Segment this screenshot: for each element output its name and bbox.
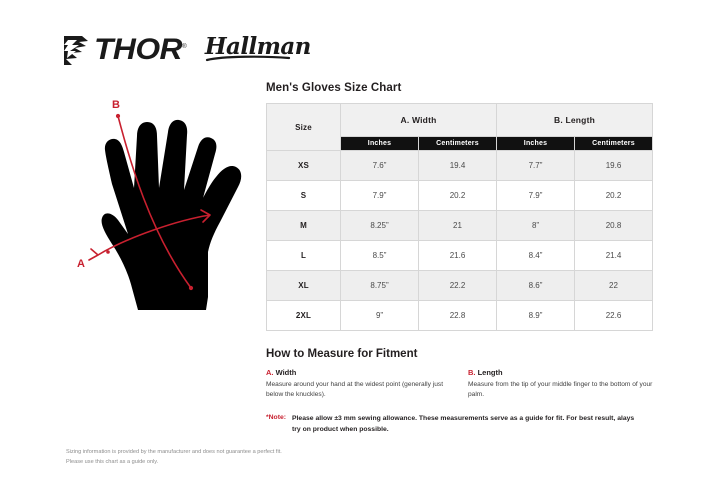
measure-width-block: A. Width Measure around your hand at the… xyxy=(266,368,452,400)
column-header-width-inches: Inches xyxy=(341,137,419,151)
cell-length-centimeters: 19.6 xyxy=(575,151,653,181)
measure-width-letter: A. xyxy=(266,368,274,377)
measure-width-body: Measure around your hand at the widest p… xyxy=(266,380,452,400)
column-header-size: Size xyxy=(267,104,341,151)
table-header: Size A. Width B. Length Inches Centimete… xyxy=(267,104,653,151)
hallman-logo: Hallman xyxy=(205,35,311,66)
cell-width-inches: 7.6” xyxy=(341,151,419,181)
table-row: M 8.25” 21 8” 20.8 xyxy=(267,211,653,241)
measure-length-heading: B. Length xyxy=(468,368,654,377)
table-row: L 8.5” 21.6 8.4” 21.4 xyxy=(267,241,653,271)
table-row: XS 7.6” 19.4 7.7” 19.6 xyxy=(267,151,653,181)
cell-length-inches: 8.9” xyxy=(497,301,575,331)
cell-width-centimeters: 21.6 xyxy=(419,241,497,271)
column-header-length-inches: Inches xyxy=(497,137,575,151)
cell-size: M xyxy=(267,211,341,241)
cell-width-inches: 8.75” xyxy=(341,271,419,301)
cell-size: L xyxy=(267,241,341,271)
page-title: Men's Gloves Size Chart xyxy=(266,82,654,94)
cell-length-inches: 7.7” xyxy=(497,151,575,181)
table-row: S 7.9” 20.2 7.9” 20.2 xyxy=(267,181,653,211)
footer-line-2: Please use this chart as a guide only. xyxy=(66,458,396,468)
label-b: B xyxy=(112,99,120,111)
cell-length-centimeters: 20.8 xyxy=(575,211,653,241)
cell-size: S xyxy=(267,181,341,211)
cell-length-centimeters: 21.4 xyxy=(575,241,653,271)
table-row: 2XL 9” 22.8 8.9” 22.6 xyxy=(267,301,653,331)
column-header-width-centimeters: Centimeters xyxy=(419,137,497,151)
note-label: *Note: xyxy=(266,414,286,436)
cell-width-centimeters: 21 xyxy=(419,211,497,241)
measure-width-heading: A. Width xyxy=(266,368,452,377)
table-header-row-groups: Size A. Width B. Length xyxy=(267,104,653,137)
brand-logo-bar: THOR® Hallman xyxy=(62,30,311,70)
column-header-length: B. Length xyxy=(497,104,653,137)
note-text: Please allow ±3 mm sewing allowance. The… xyxy=(292,414,644,436)
cell-length-inches: 8” xyxy=(497,211,575,241)
footer-line-1: Sizing information is provided by the ma… xyxy=(66,448,396,458)
hand-measurement-diagram: B A xyxy=(58,92,268,327)
thor-wordmark: THOR® xyxy=(94,35,186,65)
cell-width-inches: 7.9” xyxy=(341,181,419,211)
cell-length-inches: 8.6” xyxy=(497,271,575,301)
cell-length-inches: 8.4” xyxy=(497,241,575,271)
cell-size: 2XL xyxy=(267,301,341,331)
cell-width-centimeters: 22.2 xyxy=(419,271,497,301)
hand-silhouette-icon: B A xyxy=(58,92,268,327)
cell-width-centimeters: 20.2 xyxy=(419,181,497,211)
column-header-length-centimeters: Centimeters xyxy=(575,137,653,151)
size-chart-panel: Men's Gloves Size Chart Size A. Width B.… xyxy=(266,82,654,436)
cell-width-inches: 8.5” xyxy=(341,241,419,271)
thor-logo: THOR® xyxy=(62,34,181,67)
table-body: XS 7.6” 19.4 7.7” 19.6 S 7.9” 20.2 7.9” … xyxy=(267,151,653,331)
measure-width-name: Width xyxy=(274,368,297,377)
cell-width-centimeters: 22.8 xyxy=(419,301,497,331)
cell-length-centimeters: 22.6 xyxy=(575,301,653,331)
cell-length-centimeters: 20.2 xyxy=(575,181,653,211)
table-row: XL 8.75” 22.2 8.6” 22 xyxy=(267,271,653,301)
cell-width-centimeters: 19.4 xyxy=(419,151,497,181)
thor-hammer-icon xyxy=(62,34,92,67)
measure-length-letter: B. xyxy=(468,368,476,377)
column-header-width: A. Width xyxy=(341,104,497,137)
thor-trademark-symbol: ® xyxy=(182,44,186,50)
note-block: *Note: Please allow ±3 mm sewing allowan… xyxy=(266,414,654,436)
how-to-measure-columns: A. Width Measure around your hand at the… xyxy=(266,368,654,400)
measure-length-block: B. Length Measure from the tip of your m… xyxy=(468,368,654,400)
cell-width-inches: 8.25” xyxy=(341,211,419,241)
measure-length-body: Measure from the tip of your middle fing… xyxy=(468,380,654,400)
how-to-measure-title: How to Measure for Fitment xyxy=(266,348,654,360)
label-a: A xyxy=(77,258,85,270)
cell-size: XS xyxy=(267,151,341,181)
cell-width-inches: 9” xyxy=(341,301,419,331)
size-chart-table: Size A. Width B. Length Inches Centimete… xyxy=(266,103,653,331)
cell-size: XL xyxy=(267,271,341,301)
hallman-wordmark: Hallman xyxy=(205,35,311,58)
footer-disclaimer: Sizing information is provided by the ma… xyxy=(66,448,396,468)
cell-length-inches: 7.9” xyxy=(497,181,575,211)
measure-length-name: Length xyxy=(476,368,503,377)
cell-length-centimeters: 22 xyxy=(575,271,653,301)
